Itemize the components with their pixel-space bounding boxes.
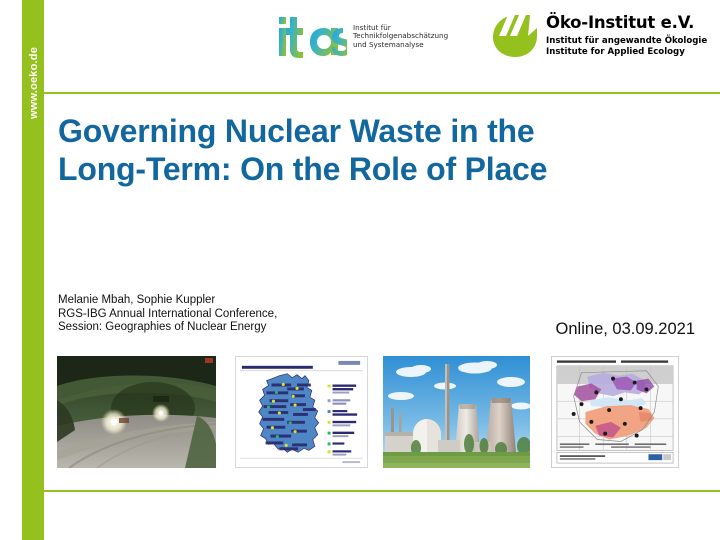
sidebar-brand-bar: www.oeko.de	[22, 0, 44, 540]
image-nuclear-power-plant	[383, 356, 530, 468]
header-divider-rule	[44, 92, 720, 94]
footer-divider-rule	[44, 490, 720, 492]
event-location-date: Online, 03.09.2021	[380, 320, 695, 339]
image-germany-geology-map	[551, 356, 679, 468]
itas-logo-subtitle: Institut für Technikfolgenabschätzung un…	[353, 24, 477, 49]
author-names: Melanie Mbah, Sophie Kuppler	[58, 294, 418, 308]
mine-tunnel-illustration	[57, 356, 216, 468]
oeko-subtitle-english: Institute for Applied Ecology	[546, 47, 685, 57]
image-underground-mine-tunnel	[57, 356, 216, 468]
authors-block: Melanie Mbah, Sophie Kuppler RGS-IBG Ann…	[58, 294, 418, 335]
oeko-institut-name: Öko-Institut e.V.	[546, 13, 694, 32]
oeko-institut-logo: Öko-Institut e.V. Institut für angewandt…	[492, 11, 707, 66]
session-name: Session: Geographies of Nuclear Energy	[58, 321, 418, 335]
image-germany-sites-map	[235, 356, 368, 468]
nuclear-power-plant-photo	[383, 356, 530, 468]
slide-title-line-1: Governing Nuclear Waste in the	[58, 112, 698, 150]
itas-wordmark-icon	[277, 14, 347, 60]
oeko-leaf-mark-icon	[492, 14, 540, 58]
sidebar-website-url: www.oeko.de	[23, 23, 45, 143]
conference-name: RGS-IBG Annual International Conference,	[58, 308, 418, 322]
slide-title-line-2: Long-Term: On the Role of Place	[58, 150, 698, 188]
slide-root: www.oeko.de Institut für	[0, 0, 720, 540]
itas-subtitle-line-3: und Systemanalyse	[353, 41, 477, 49]
germany-geology-map-illustration	[552, 357, 678, 467]
oeko-subtitle-german: Institut für angewandte Ökologie	[546, 36, 707, 46]
itas-logo: Institut für Technikfolgenabschätzung un…	[277, 14, 477, 64]
slide-title: Governing Nuclear Waste in the Long-Term…	[58, 112, 698, 188]
germany-sites-map-illustration	[236, 357, 367, 467]
